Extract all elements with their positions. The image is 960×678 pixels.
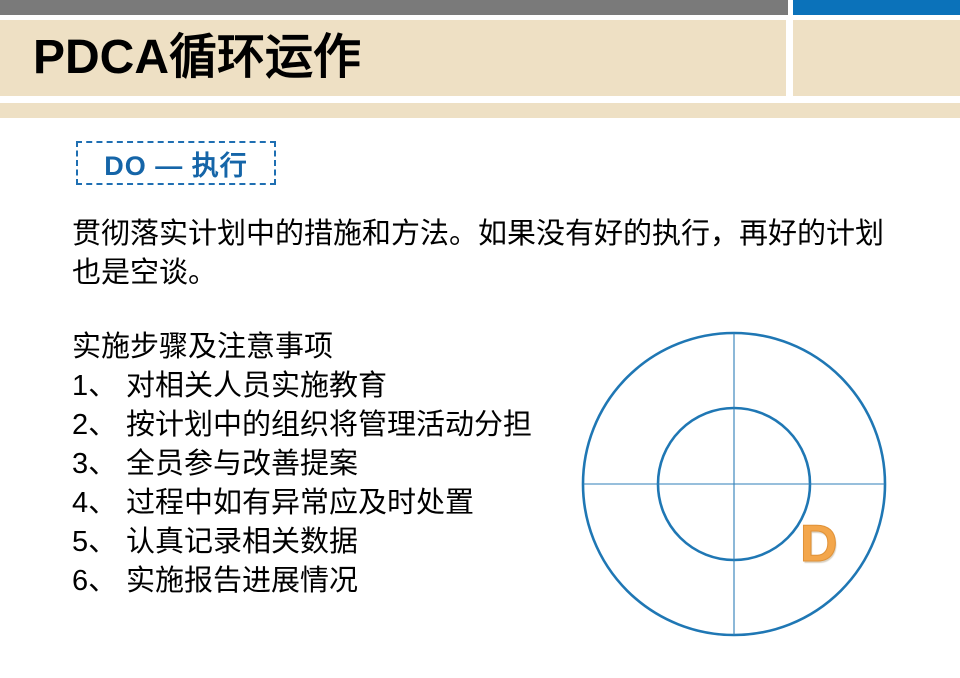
list-item-number: 3、 bbox=[72, 445, 126, 484]
top-bar-blue bbox=[793, 0, 960, 15]
list-item: 5、 认真记录相关数据 bbox=[72, 523, 612, 562]
slide-canvas: PDCA循环运作 DO — 执行 贯彻落实计划中的措施和方法。如果没有好的执行，… bbox=[0, 0, 960, 678]
phase-letter-d: D bbox=[800, 518, 838, 570]
list-item-label: 全员参与改善提案 bbox=[126, 445, 358, 484]
list-item-number: 1、 bbox=[72, 367, 126, 406]
steps-heading: 实施步骤及注意事项 bbox=[72, 328, 612, 367]
list-item-label: 对相关人员实施教育 bbox=[126, 367, 387, 406]
list-item-number: 2、 bbox=[72, 406, 126, 445]
do-phase-badge-label: DO — 执行 bbox=[104, 144, 248, 183]
do-phase-badge: DO — 执行 bbox=[76, 141, 276, 185]
list-item-number: 4、 bbox=[72, 484, 126, 523]
list-item: 1、 对相关人员实施教育 bbox=[72, 367, 612, 406]
list-item-number: 5、 bbox=[72, 523, 126, 562]
list-item: 3、 全员参与改善提案 bbox=[72, 445, 612, 484]
body-paragraph: 贯彻落实计划中的措施和方法。如果没有好的执行，再好的计划也是空谈。 bbox=[72, 215, 892, 293]
header-band-right bbox=[793, 20, 960, 96]
list-item-label: 过程中如有异常应及时处置 bbox=[126, 484, 474, 523]
pdca-cycle-diagram bbox=[578, 328, 890, 640]
list-item-number: 6、 bbox=[72, 562, 126, 601]
header-accent-strip bbox=[0, 103, 960, 118]
page-title: PDCA循环运作 bbox=[33, 27, 361, 89]
list-item-label: 按计划中的组织将管理活动分担 bbox=[126, 406, 532, 445]
top-bar-gray bbox=[0, 0, 788, 15]
list-item: 2、 按计划中的组织将管理活动分担 bbox=[72, 406, 612, 445]
list-item-label: 认真记录相关数据 bbox=[126, 523, 358, 562]
list-item: 4、 过程中如有异常应及时处置 bbox=[72, 484, 612, 523]
list-item-label: 实施报告进展情况 bbox=[126, 562, 358, 601]
list-item: 6、 实施报告进展情况 bbox=[72, 562, 612, 601]
steps-section: 实施步骤及注意事项 1、 对相关人员实施教育 2、 按计划中的组织将管理活动分担… bbox=[72, 328, 612, 601]
